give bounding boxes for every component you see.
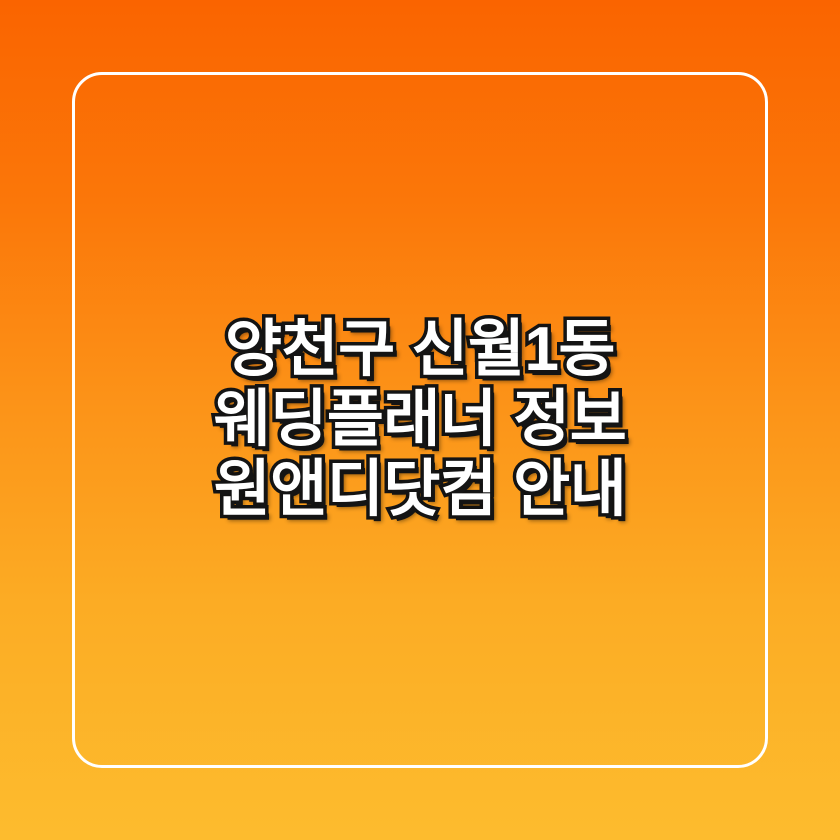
- promo-card: 양천구 신월1동 웨딩플래너 정보 원앤디닷컴 안내: [0, 0, 840, 840]
- headline-block: 양천구 신월1동 웨딩플래너 정보 원앤디닷컴 안내: [0, 315, 840, 525]
- headline-line-1: 양천구 신월1동: [86, 315, 754, 385]
- headline-line-3: 원앤디닷컴 안내: [86, 455, 754, 525]
- headline-line-2: 웨딩플래너 정보: [86, 385, 754, 455]
